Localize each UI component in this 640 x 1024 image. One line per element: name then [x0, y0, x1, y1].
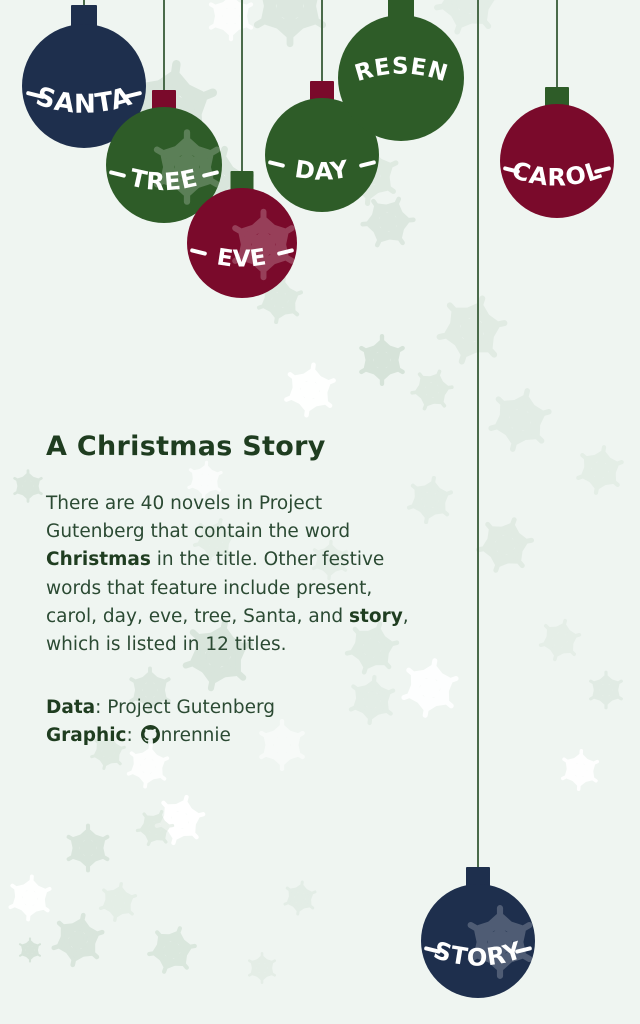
- graphic-credit-value: nrennie: [161, 725, 231, 746]
- snowflake-icon: [90, 874, 146, 930]
- snowflake-icon: [273, 353, 348, 428]
- ornament-label-wrap: CAROL: [500, 87, 614, 218]
- ornament-label-wrap: PRESENT: [338, 0, 464, 141]
- description-paragraph: There are 40 novels in Project Gutenberg…: [46, 490, 418, 660]
- data-credit-label: Data: [46, 697, 95, 718]
- snowflake-icon: [39, 901, 117, 979]
- ornament-label-text: STORY: [430, 936, 525, 971]
- snowflake-icon: [0, 868, 60, 929]
- data-credit-colon: :: [95, 697, 107, 718]
- svg-text:EVE: EVE: [215, 244, 269, 272]
- ornament-label-text: PRESENT: [329, 0, 451, 87]
- snowflake-icon: [134, 912, 211, 989]
- ornament-string-story: [477, 0, 479, 884]
- page-title: A Christmas Story: [46, 430, 446, 464]
- snowflake-icon: [201, 0, 261, 46]
- snowflake-icon: [142, 782, 219, 859]
- snowflake-icon: [8, 466, 48, 506]
- snowflake-icon: [565, 435, 635, 505]
- snowflake-icon: [351, 329, 413, 391]
- github-icon: [141, 725, 160, 753]
- svg-text:PRESENT: PRESENT: [329, 0, 451, 87]
- ornament-carol: CAROL: [500, 87, 614, 218]
- svg-text:DAY: DAY: [293, 155, 351, 186]
- snowflake-icon: [473, 373, 568, 468]
- snowflake-icon: [59, 819, 117, 877]
- ornament-label-text: CAROL: [509, 156, 606, 192]
- paragraph-run: There are 40 novels in Project Gutenberg…: [46, 493, 350, 542]
- paragraph-bold-run: Christmas: [46, 549, 151, 570]
- data-credit-line: Data: Project Gutenberg: [46, 694, 446, 722]
- snowflake-icon: [583, 667, 629, 713]
- graphic-credit-label: Graphic: [46, 725, 127, 746]
- snowflake-icon: [398, 356, 466, 424]
- snowflake-icon: [241, 0, 339, 55]
- snowflake-icon: [553, 743, 606, 796]
- snowflake-icon: [276, 874, 323, 921]
- ornament-string-eve: [241, 0, 243, 188]
- credits-block: Data: Project Gutenberg Graphic: nrennie: [46, 694, 446, 753]
- ornament-label-wrap: STORY: [421, 867, 535, 998]
- graphic-credit-colon: :: [127, 725, 139, 746]
- data-credit-value: Project Gutenberg: [107, 697, 275, 718]
- snowflake-icon: [528, 608, 592, 672]
- ornament-label-text: EVE: [215, 244, 269, 272]
- snowflake-icon: [15, 935, 45, 965]
- snowflake-icon: [418, 276, 526, 384]
- ornament-present: PRESENT: [338, 0, 464, 141]
- svg-text:STORY: STORY: [430, 936, 525, 971]
- snowflake-icon: [243, 949, 281, 987]
- ornament-label-text: DAY: [293, 155, 351, 186]
- ornament-story: STORY: [421, 867, 535, 998]
- graphic-credit-line: Graphic: nrennie: [46, 722, 446, 753]
- text-block: A Christmas Story There are 40 novels in…: [46, 430, 446, 753]
- snowflake-icon: [125, 798, 185, 858]
- svg-text:CAROL: CAROL: [509, 156, 606, 192]
- poster-canvas: SANTATREEEVEDAYPRESENTCAROLSTORY A Chris…: [0, 0, 640, 1024]
- snowflake-icon: [460, 500, 550, 590]
- paragraph-bold-run: story: [349, 606, 403, 627]
